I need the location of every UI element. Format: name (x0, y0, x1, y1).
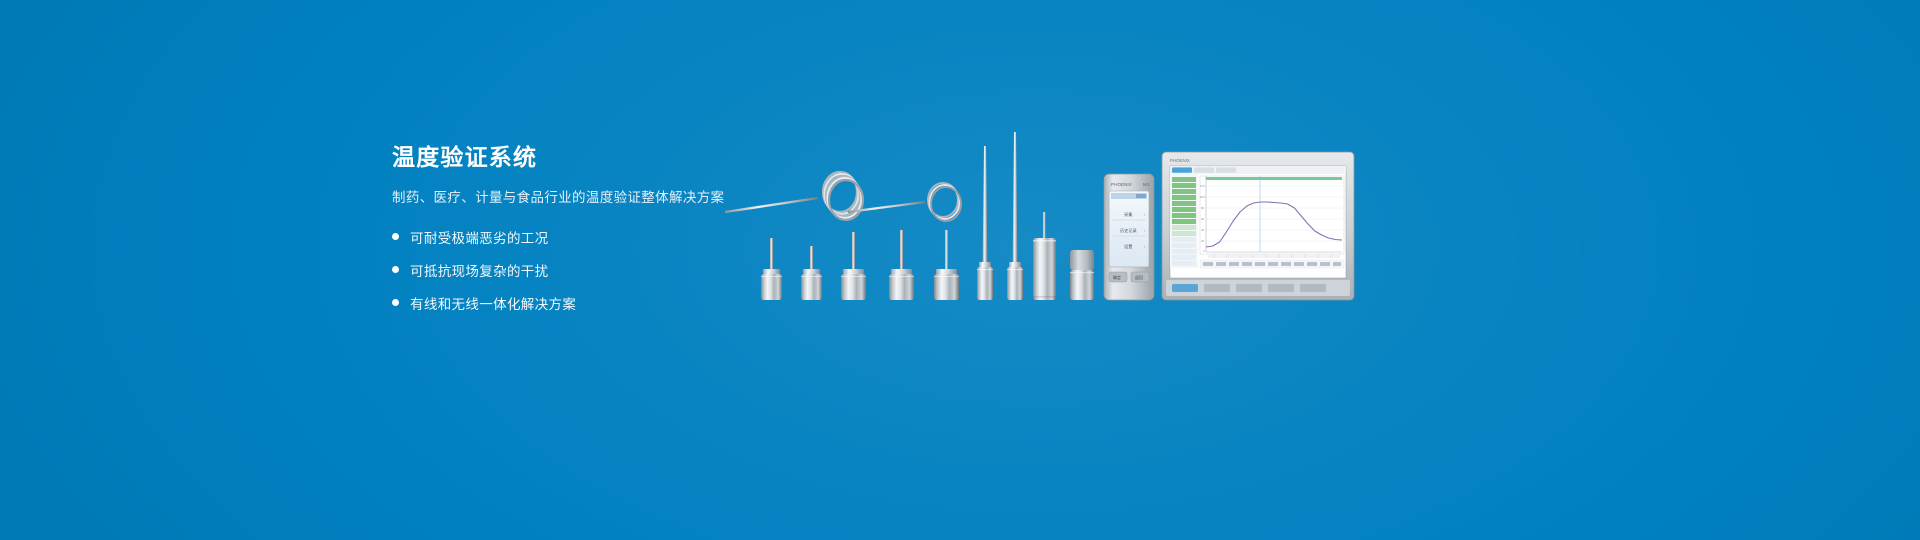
svg-text:40: 40 (1201, 228, 1205, 232)
mid-stem-logger (934, 230, 959, 300)
list-item: 可抵抗现场复杂的干扰 (392, 260, 752, 280)
bullet-dot-icon (392, 299, 399, 306)
feature-bullet-list: 可耐受极端恶劣的工况 可抵抗现场复杂的干扰 有线和无线一体化解决方案 (392, 227, 752, 313)
short-stem-logger-1 (761, 238, 782, 300)
list-item: 有线和无线一体化解决方案 (392, 293, 752, 313)
svg-text:20: 20 (1201, 239, 1205, 243)
svg-text:120: 120 (1200, 184, 1205, 188)
needle-probe-logger-1 (977, 146, 993, 300)
monitor-start-button[interactable] (1172, 284, 1198, 292)
monitor-pause-button[interactable] (1204, 284, 1230, 292)
svg-text:80: 80 (1201, 206, 1205, 210)
chart-x-tick-marks (1208, 254, 1340, 258)
mid-stem-logger (841, 232, 866, 300)
bullet-dot-icon (392, 233, 399, 240)
bullet-dot-icon (392, 266, 399, 273)
svg-text:60: 60 (1201, 217, 1205, 221)
svg-text:设置: 设置 (1124, 243, 1132, 250)
monitor-tab-overview[interactable] (1172, 167, 1192, 172)
tall-cylinder-logger (1033, 212, 1056, 300)
handheld-model-label: M1 (1143, 182, 1150, 187)
monitor-tab-report[interactable] (1216, 167, 1236, 172)
monitor-channel-list (1172, 177, 1196, 266)
monitor-brand-label: PHOENIX (1170, 158, 1190, 163)
monitor-display: PHOENIX (1162, 152, 1354, 300)
monitor-tab-curve[interactable] (1194, 167, 1214, 172)
bullet-label: 可耐受极端恶劣的工况 (410, 227, 549, 247)
monitor-settings-button[interactable] (1300, 284, 1326, 292)
svg-text:采集: 采集 (1124, 211, 1133, 218)
hero-banner: 温度验证系统 制药、医疗、计量与食品行业的温度验证整体解决方案 可耐受极端恶劣的… (0, 0, 1920, 540)
needle-probe-logger-2 (1007, 132, 1023, 300)
monitor-export-button[interactable] (1236, 284, 1262, 292)
mid-stem-logger (889, 230, 914, 300)
bullet-label: 可抵抗现场复杂的干扰 (410, 260, 549, 280)
svg-text:确定: 确定 (1113, 274, 1121, 280)
handheld-device: PHOENIX M1 采集 › 历史记录 › 设置 › (1104, 174, 1154, 300)
svg-text:返回: 返回 (1135, 274, 1143, 280)
monitor-status-bar (1172, 284, 1326, 292)
sintered-cap-logger (1070, 250, 1094, 300)
handheld-brand-label: PHOENIX (1111, 182, 1132, 187)
hero-copy-block: 温度验证系统 制药、医疗、计量与食品行业的温度验证整体解决方案 可耐受极端恶劣的… (392, 143, 752, 313)
coiled-probe-short (848, 183, 961, 268)
product-photo-composite: PHOENIX M1 采集 › 历史记录 › 设置 › (700, 120, 1260, 320)
list-item: 可耐受极端恶劣的工况 (392, 227, 752, 247)
svg-text:历史记录: 历史记录 (1120, 227, 1137, 234)
page-title: 温度验证系统 (392, 143, 752, 172)
short-stem-logger-2 (801, 246, 822, 300)
svg-text:100: 100 (1200, 195, 1205, 199)
hero-subtitle: 制药、医疗、计量与食品行业的温度验证整体解决方案 (392, 189, 752, 208)
monitor-print-button[interactable] (1268, 284, 1294, 292)
bullet-label: 有线和无线一体化解决方案 (410, 293, 576, 313)
